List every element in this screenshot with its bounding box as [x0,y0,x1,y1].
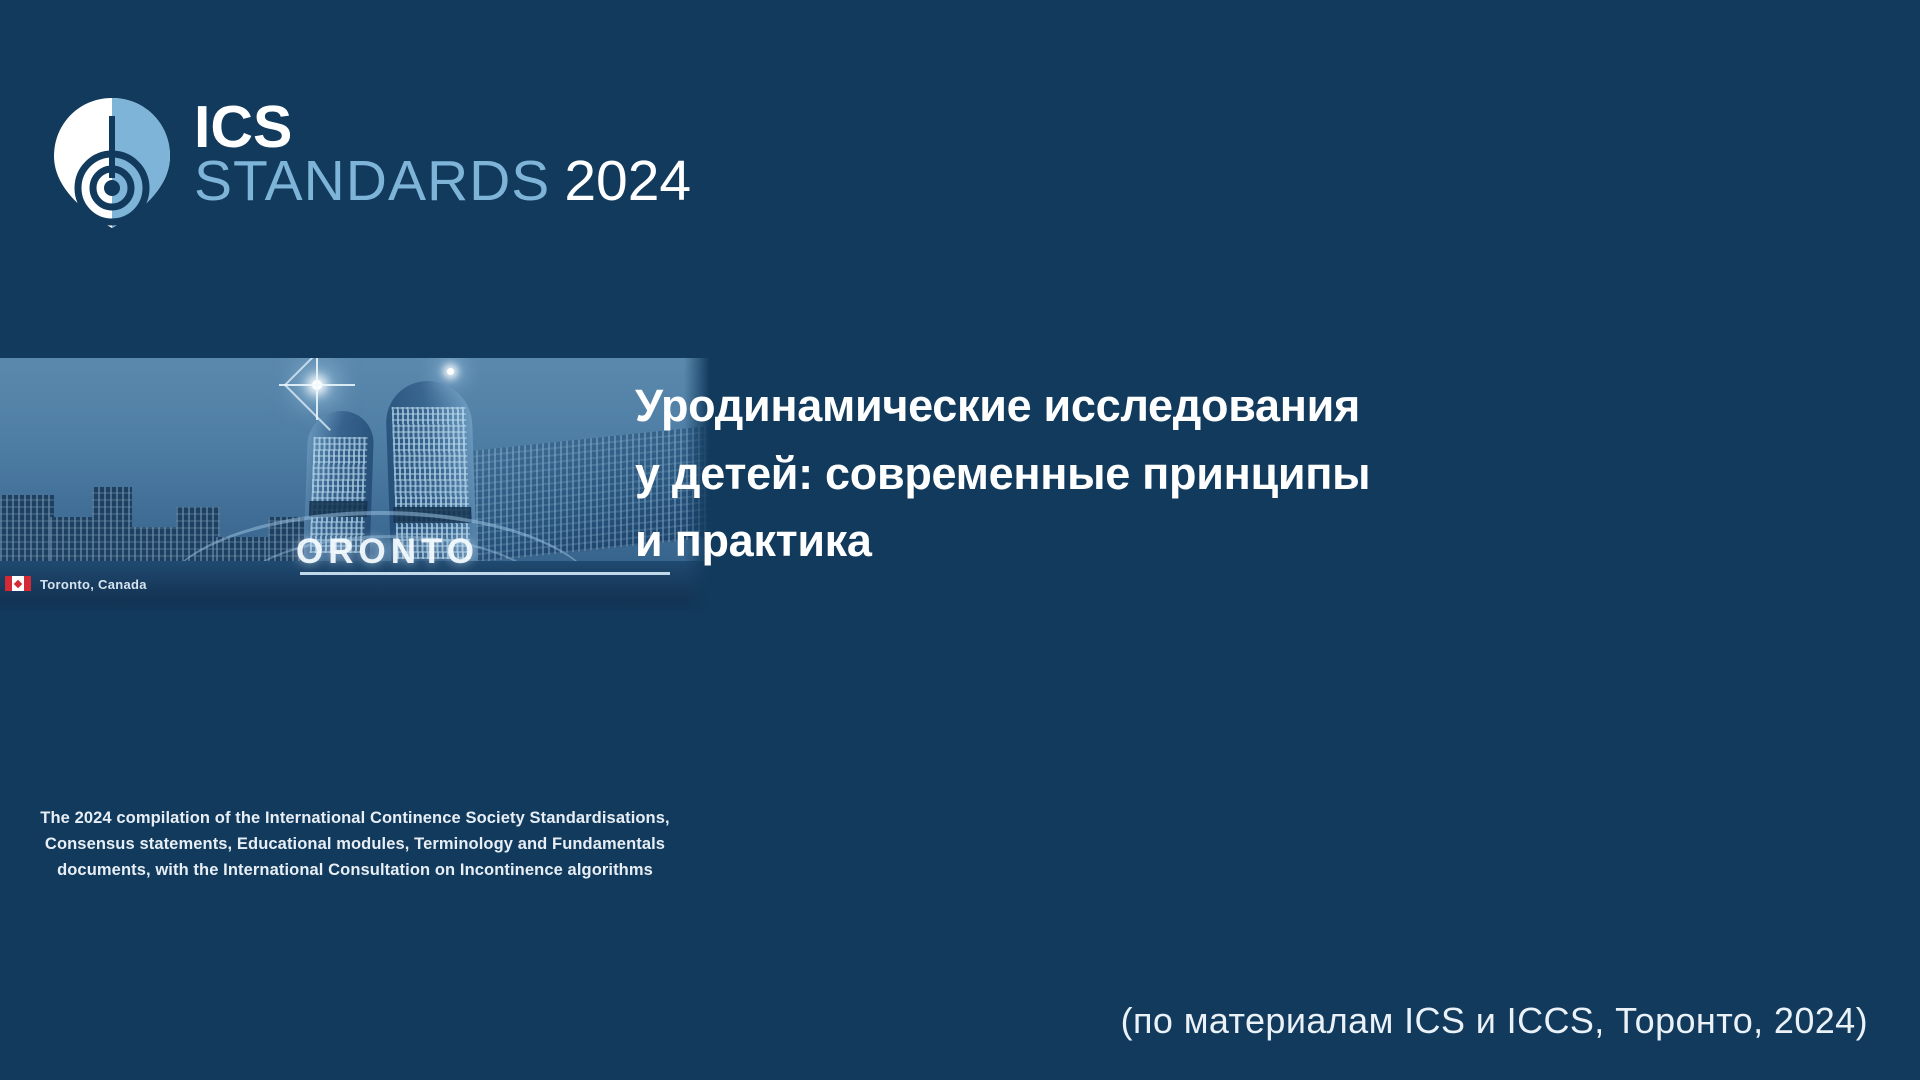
logo-year-text: 2024 [564,149,691,213]
presentation-slide: ICS STANDARDS2024 ORONTO [0,0,1920,1080]
title-line: у детей: современные принципы [635,440,1535,508]
caption-line: Consensus statements, Educational module… [0,831,710,857]
photo-location-label: Toronto, Canada [40,577,147,592]
ics-compilation-caption: The 2024 compilation of the Internationa… [0,805,710,883]
photo-edge-fade [0,599,710,613]
title-line: и практика [635,507,1535,575]
canada-flag-icon [5,576,31,591]
lens-flare-starburst [312,380,322,390]
logo-standards-text: STANDARDS [194,149,550,213]
ics-emblem-icon [52,96,172,230]
toronto-sign-text: ORONTO [296,534,479,569]
tower-light [447,368,454,375]
plaza-light-strip [300,572,670,575]
source-attribution: (по материалам ICS и ICCS, Торонто, 2024… [1121,1000,1868,1042]
slide-title: Уродинамические исследования у детей: со… [635,372,1535,575]
logo-ics-text: ICS [194,100,691,155]
ics-standards-logo: ICS STANDARDS2024 [52,96,691,230]
caption-line: documents, with the International Consul… [0,857,710,883]
caption-line: The 2024 compilation of the Internationa… [0,805,710,831]
toronto-city-photo: ORONTO Toronto, Canada [0,358,710,613]
title-line: Уродинамические исследования [635,372,1535,440]
